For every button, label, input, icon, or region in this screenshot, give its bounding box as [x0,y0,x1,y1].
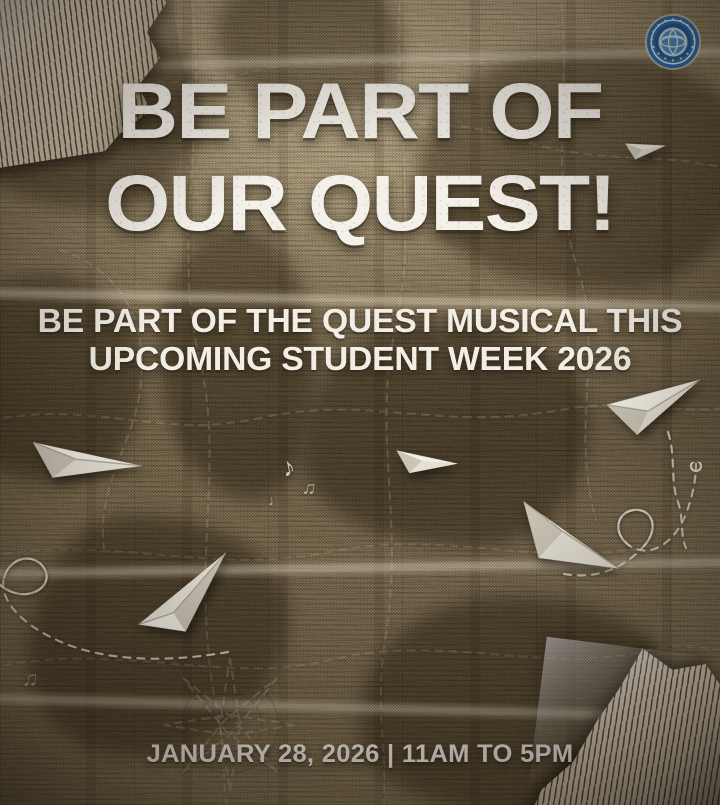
page-title-line-2: OUR QUEST! [0,166,720,239]
paper-plane-bottom-left-icon [122,551,238,646]
circular-blue-seal-emblem-logo [644,13,702,71]
event-date-time: JANUARY 28, 2026 | 11AM TO 5PM [0,740,720,769]
quest-musical-poster: ♪ ♫ ♩ ♫ [0,0,720,805]
music-note-beamed-icon: ♫ [301,477,318,501]
subheading-line-2: UPCOMING STUDENT WEEK 2026 [0,340,720,378]
paper-plane-mid-left-icon [30,428,143,490]
music-note-quarter-icon: ♩ [267,491,283,509]
paper-plane-small-center-icon [395,442,459,479]
music-note-beamed-lower-left-icon: ♫ [21,665,40,693]
subheading-line-1: BE PART OF THE QUEST MUSICAL THIS [38,302,683,339]
torn-newspaper-bottom-right [523,637,720,805]
page-title-line-1: BE PART OF [0,74,720,147]
subheading: BE PART OF THE QUEST MUSICAL THIS UPCOMI… [0,302,720,379]
